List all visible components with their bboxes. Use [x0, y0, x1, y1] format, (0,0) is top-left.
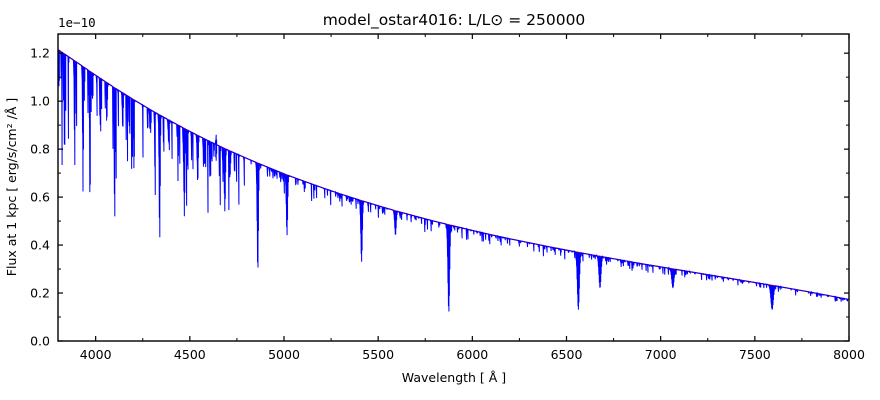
x-tick-label: 7000: [645, 347, 677, 362]
x-tick-label: 5000: [268, 347, 300, 362]
chart-title: model_ostar4016: L/L⊙ = 250000: [323, 11, 586, 30]
x-tick-label: 6000: [456, 347, 488, 362]
y-tick-label: 0.4: [30, 238, 50, 253]
x-axis-tick-labels: 400045005000550060006500700075008000: [80, 347, 865, 362]
y-axis-title: Flux at 1 kpc [ erg/s/cm² /Å ]: [4, 98, 19, 276]
x-tick-label: 4000: [80, 347, 112, 362]
x-tick-label: 7500: [739, 347, 771, 362]
x-tick-label: 6500: [551, 347, 583, 362]
y-tick-label: 1.0: [30, 94, 50, 109]
y-tick-label: 0.6: [30, 190, 50, 205]
y-tick-label: 0.0: [30, 334, 50, 349]
y-axis-offset-label: 1e−10: [58, 15, 96, 30]
x-tick-label: 5500: [362, 347, 394, 362]
x-tick-label: 8000: [833, 347, 865, 362]
y-tick-label: 0.8: [30, 142, 50, 157]
x-axis-title: Wavelength [ Å ]: [402, 370, 506, 385]
plot-area-background: [58, 34, 849, 341]
y-tick-label: 1.2: [30, 46, 50, 61]
x-tick-label: 4500: [174, 347, 206, 362]
y-tick-label: 0.2: [30, 286, 50, 301]
y-axis-tick-labels: 0.00.20.40.60.81.01.2: [30, 46, 50, 349]
chart-canvas: 400045005000550060006500700075008000 0.0…: [0, 0, 880, 400]
spectrum-figure: 400045005000550060006500700075008000 0.0…: [0, 0, 880, 400]
